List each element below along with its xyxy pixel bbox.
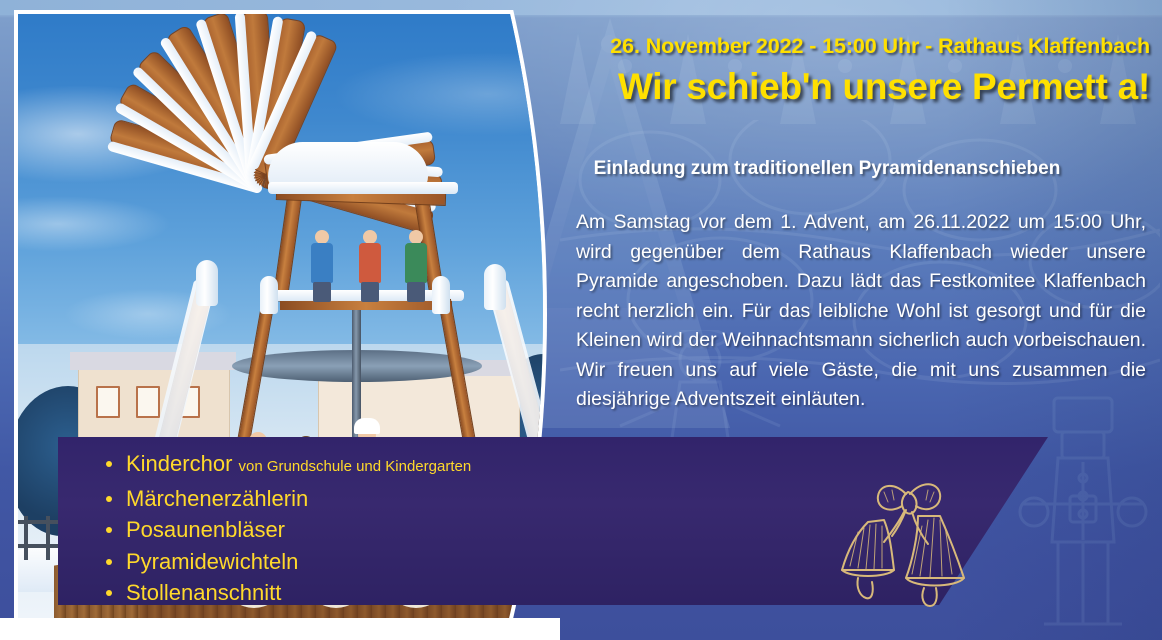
program-item-label: Posaunenbläser [126,517,285,542]
bullet-dot-icon [106,559,112,565]
pyramid-figurine [310,230,334,302]
program-list: Kinderchor von Grundschule und Kindergar… [100,448,471,609]
bullet-dot-icon [106,496,112,502]
event-date-line: 26. November 2022 - 15:00 Uhr - Rathaus … [508,34,1162,59]
christmas-bells-icon [832,470,980,610]
photo-window [96,386,120,418]
program-item-label: Pyramidewichteln [126,549,298,574]
program-item-label: Kinderchor [126,451,232,476]
list-item: Kinderchor von Grundschule und Kindergar… [100,448,471,483]
pyramid-finial [432,276,450,314]
poster-body-text: Am Samstag vor dem 1. Advent, am 26.11.2… [576,208,1146,415]
pyramid-finial [260,276,278,314]
photo-window [136,386,160,418]
list-item: Pyramidewichteln [100,546,471,578]
bullet-dot-icon [106,527,112,533]
pyramid-beam-snow [268,182,458,194]
pyramid-finial [196,260,218,306]
bullet-dot-icon [106,590,112,596]
bullet-dot-icon [106,461,112,467]
photo-bottom-margin [0,618,560,640]
photo-roof [70,352,236,370]
poster-headline: Wir schieb'n unsere Permett a! [508,66,1162,108]
list-item: Stollenanschnitt [100,577,471,609]
program-item-sub: von Grundschule und Kindergarten [239,458,472,475]
list-item: Märchenerzählerin [100,483,471,515]
program-item-label: Stollenanschnitt [126,580,281,605]
pyramid-figurine [358,230,382,302]
list-item: Posaunenbläser [100,514,471,546]
pyramid-figurine [404,230,428,302]
poster-root: 26. November 2022 - 15:00 Uhr - Rathaus … [0,0,1162,640]
poster-subheadline: Einladung zum traditionellen Pyramidenan… [508,158,1162,180]
program-item-label: Märchenerzählerin [126,486,308,511]
